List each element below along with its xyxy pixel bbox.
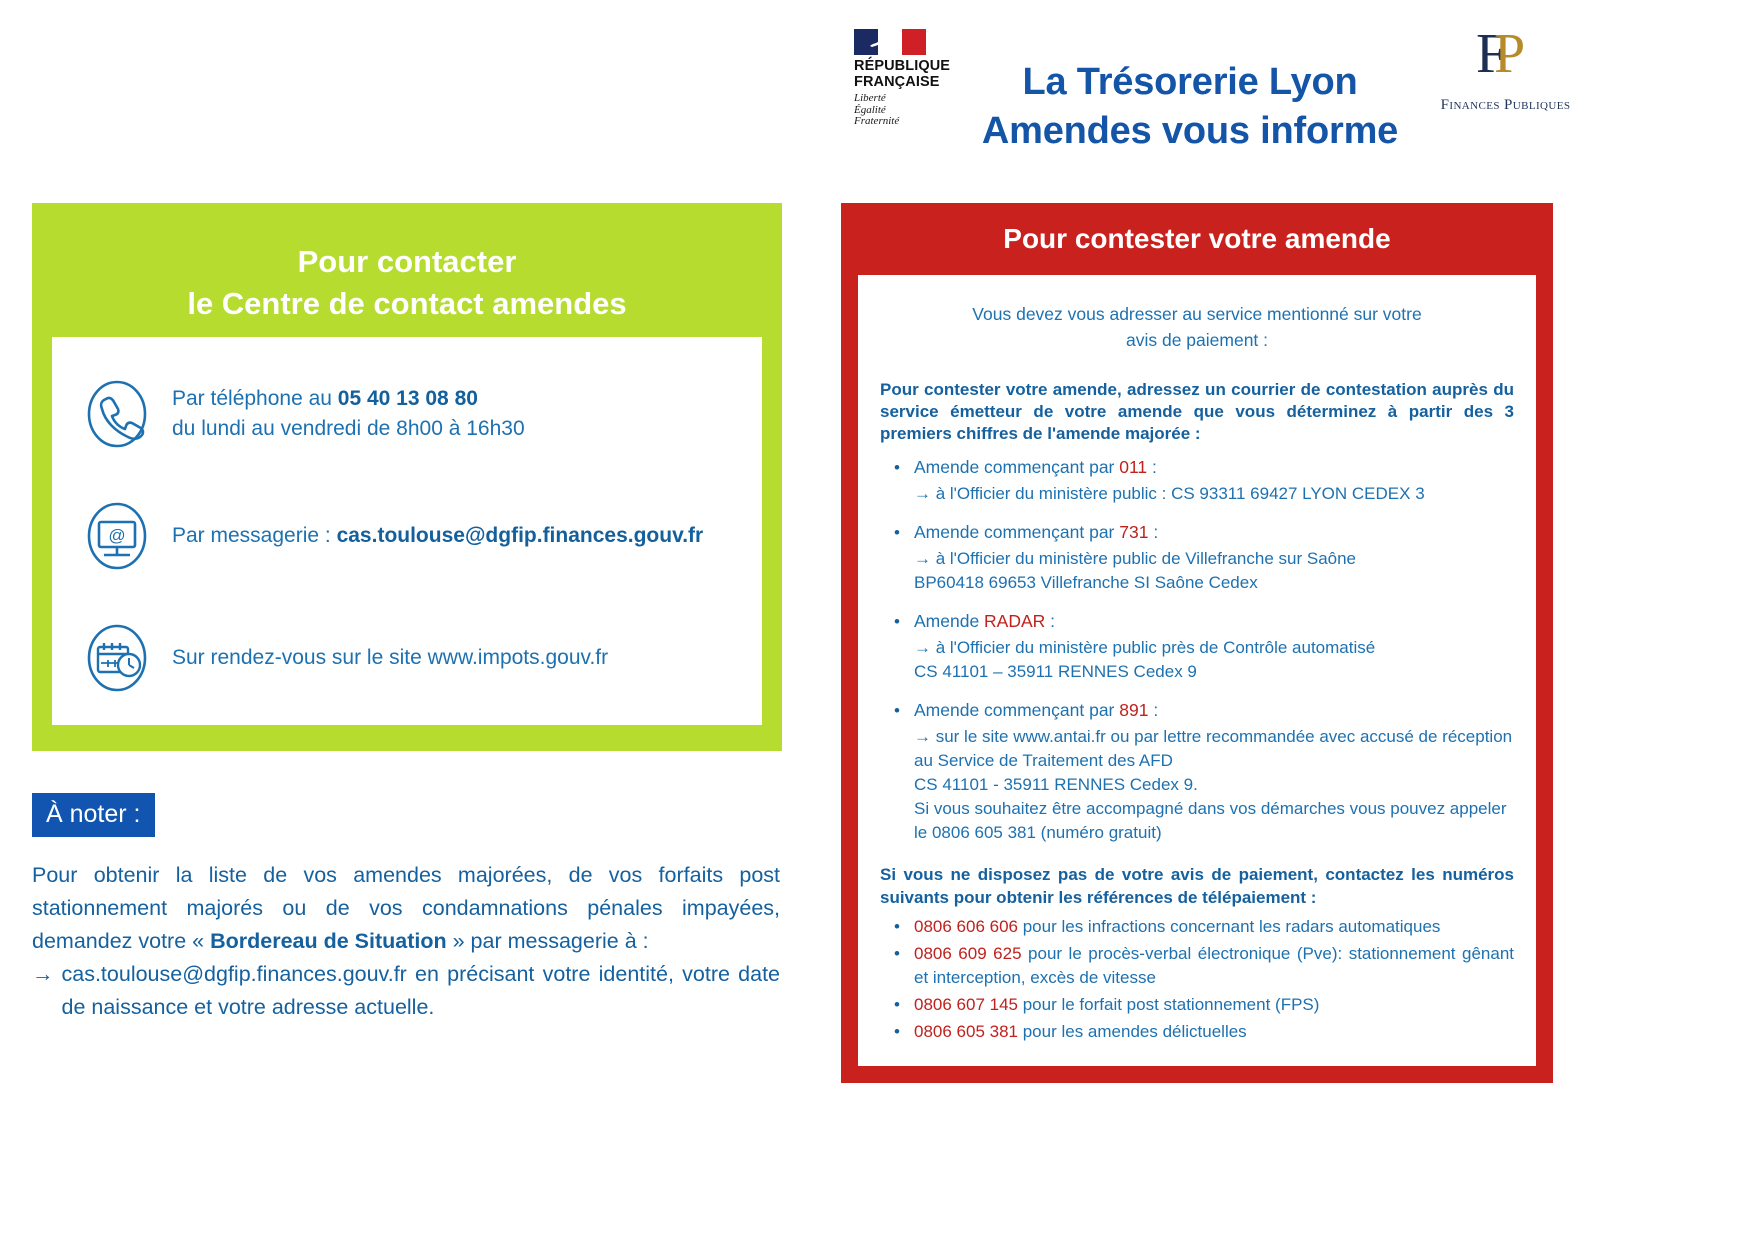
page-title: La Trésorerie Lyon Amendes vous informe [960,58,1420,156]
fine-head-prefix: Amende [914,611,984,631]
fine-head-suffix: : [1147,457,1157,477]
list-item: 0806 609 625 pour le procès-verbal élect… [914,942,1514,990]
phone-icon [82,379,152,449]
fine-code: 011 [1119,457,1147,477]
fine-item-body: → à l'Officier du ministère public de Vi… [914,547,1514,595]
fine-code: 731 [1119,522,1148,542]
telepaiement-lead-text: Si vous ne disposez pas de votre avis de… [880,863,1514,909]
contact-center-panel: Pour contacter le Centre de contact amen… [32,203,782,751]
page-title-line1: La Trésorerie Lyon [960,58,1420,107]
contact-text-phone: Par téléphone au 05 40 13 08 80 du lundi… [172,384,525,444]
contest-lead-text: Pour contester votre amende, adressez un… [880,379,1514,445]
fine-prefix-list: Amende commençant par 011 : → à l'Offici… [880,455,1514,845]
french-flag-icon [854,29,926,55]
a-noter-email-text: cas.toulouse@dgfip.finances.gouv.fr en p… [62,958,781,1024]
a-noter-part2: » par messagerie à : [447,929,649,953]
fine-head-suffix: : [1148,700,1158,720]
phone-label: Par téléphone au [172,387,338,410]
fine-head-prefix: Amende commençant par [914,522,1119,542]
fine-item-head: Amende commençant par 891 : [914,698,1514,723]
fine-body-line: CS 41101 - 35911 RENNES Cedex 9. [914,773,1514,797]
fine-code: RADAR [984,611,1045,631]
svg-text:P: P [1494,23,1523,84]
finances-publiques-monogram-icon: F P [1418,22,1593,93]
contest-intro-line2: avis de paiement : [898,327,1496,353]
fp-monogram-svg: F P [1474,22,1538,84]
a-noter-badge: À noter : [32,793,155,837]
green-title-line1: Pour contacter [32,241,782,283]
a-noter-section: À noter : Pour obtenir la liste de vos a… [32,793,792,1024]
fine-body-line: → à l'Officier du ministère public : CS … [914,482,1514,506]
republique-motto: Liberté Égalité Fraternité [854,93,970,128]
contact-row-email: @ Par messagerie : cas.toulouse@dgfip.fi… [52,501,762,571]
list-item: Amende RADAR : → à l'Officier du ministè… [914,609,1514,684]
finances-publiques-caption: Finances Publiques [1418,97,1593,114]
red-panel-title: Pour contester votre amende [841,203,1553,257]
phone-number: 0806 606 606 [914,917,1018,936]
phone-hours: du lundi au vendredi de 8h00 à 16h30 [172,414,525,444]
republique-francaise-name: RÉPUBLIQUE FRANÇAISE [854,58,970,90]
motto-liberte: Liberté [854,93,970,105]
contact-text-email: Par messagerie : cas.toulouse@dgfip.fina… [172,521,703,551]
fine-item-body: → à l'Officier du ministère public près … [914,636,1514,684]
fine-body-line: Si vous souhaitez être accompagné dans v… [914,797,1514,845]
a-noter-bold: Bordereau de Situation [210,929,447,953]
fine-head-prefix: Amende commençant par [914,700,1119,720]
fine-item-head: Amende commençant par 011 : [914,455,1514,480]
finances-publiques-logo: F P Finances Publiques [1418,22,1593,114]
green-title-line2: le Centre de contact amendes [32,283,782,325]
phone-description: pour le forfait post stationnement (FPS) [1018,995,1319,1014]
list-item: 0806 605 381 pour les amendes délictuell… [914,1020,1514,1044]
fine-item-body: → à l'Officier du ministère public : CS … [914,482,1514,506]
contact-text-appointment: Sur rendez-vous sur le site www.impots.g… [172,643,608,673]
email-line1: Par messagerie : cas.toulouse@dgfip.fina… [172,521,703,551]
phone-line1: Par téléphone au 05 40 13 08 80 [172,384,525,414]
svg-text:@: @ [108,526,125,545]
contact-row-appointment: Sur rendez-vous sur le site www.impots.g… [52,623,762,693]
contest-intro: Vous devez vous adresser au service ment… [898,301,1496,353]
appointment-line1: Sur rendez-vous sur le site www.impots.g… [172,643,608,673]
arrow-right-icon: → [32,958,54,991]
fine-head-suffix: : [1045,611,1055,631]
contest-fine-card: Vous devez vous adresser au service ment… [858,275,1536,1066]
fine-item-body: → sur le site www.antai.fr ou par lettre… [914,725,1514,845]
list-item: Amende commençant par 891 : → sur le sit… [914,698,1514,845]
list-item: 0806 606 606 pour les infractions concer… [914,915,1514,939]
page-title-line2: Amendes vous informe [960,107,1420,156]
list-item: Amende commençant par 731 : → à l'Offici… [914,520,1514,595]
email-screen-icon: @ [82,501,152,571]
phone-number: 0806 607 145 [914,995,1018,1014]
telepaiement-phone-list: 0806 606 606 pour les infractions concer… [880,915,1514,1044]
contact-methods-card: Par téléphone au 05 40 13 08 80 du lundi… [52,337,762,725]
a-noter-paragraph: Pour obtenir la liste de vos amendes maj… [32,859,780,1024]
phone-number: 05 40 13 08 80 [338,387,478,410]
marianne-icon [868,34,894,50]
fine-body-line: CS 41101 – 35911 RENNES Cedex 9 [914,660,1514,684]
fine-body-line: → à l'Officier du ministère public près … [914,636,1514,660]
calendar-clock-icon [82,623,152,693]
fine-head-suffix: : [1148,522,1158,542]
contest-fine-panel: Pour contester votre amende Vous devez v… [841,203,1553,1083]
rf-line2: FRANÇAISE [854,74,970,90]
contest-intro-line1: Vous devez vous adresser au service ment… [898,301,1496,327]
rf-line1: RÉPUBLIQUE [854,58,970,74]
email-address[interactable]: cas.toulouse@dgfip.finances.gouv.fr [337,524,704,547]
motto-fraternite: Fraternité [854,116,970,128]
fine-body-line: → sur le site www.antai.fr ou par lettre… [914,725,1514,773]
email-label: Par messagerie : [172,524,337,547]
a-noter-email-line: → cas.toulouse@dgfip.finances.gouv.fr en… [32,958,780,1024]
phone-description: pour les infractions concernant les rada… [1018,917,1440,936]
fine-item-head: Amende RADAR : [914,609,1514,634]
green-panel-title: Pour contacter le Centre de contact amen… [32,203,782,325]
phone-number: 0806 609 625 [914,944,1022,963]
fine-head-prefix: Amende commençant par [914,457,1119,477]
fine-body-line: → à l'Officier du ministère public de Vi… [914,547,1514,571]
contact-row-phone: Par téléphone au 05 40 13 08 80 du lundi… [52,379,762,449]
list-item: 0806 607 145 pour le forfait post statio… [914,993,1514,1017]
phone-number: 0806 605 381 [914,1022,1018,1041]
fine-code: 891 [1119,700,1148,720]
phone-description: pour les amendes délictuelles [1018,1022,1247,1041]
republique-francaise-logo: RÉPUBLIQUE FRANÇAISE Liberté Égalité Fra… [840,22,970,124]
flag-red-band [902,29,926,55]
list-item: Amende commençant par 011 : → à l'Offici… [914,455,1514,506]
fine-body-line: BP60418 69653 Villefranche SI Saône Cede… [914,571,1514,595]
fine-item-head: Amende commençant par 731 : [914,520,1514,545]
page-header: RÉPUBLIQUE FRANÇAISE Liberté Égalité Fra… [0,0,1755,190]
